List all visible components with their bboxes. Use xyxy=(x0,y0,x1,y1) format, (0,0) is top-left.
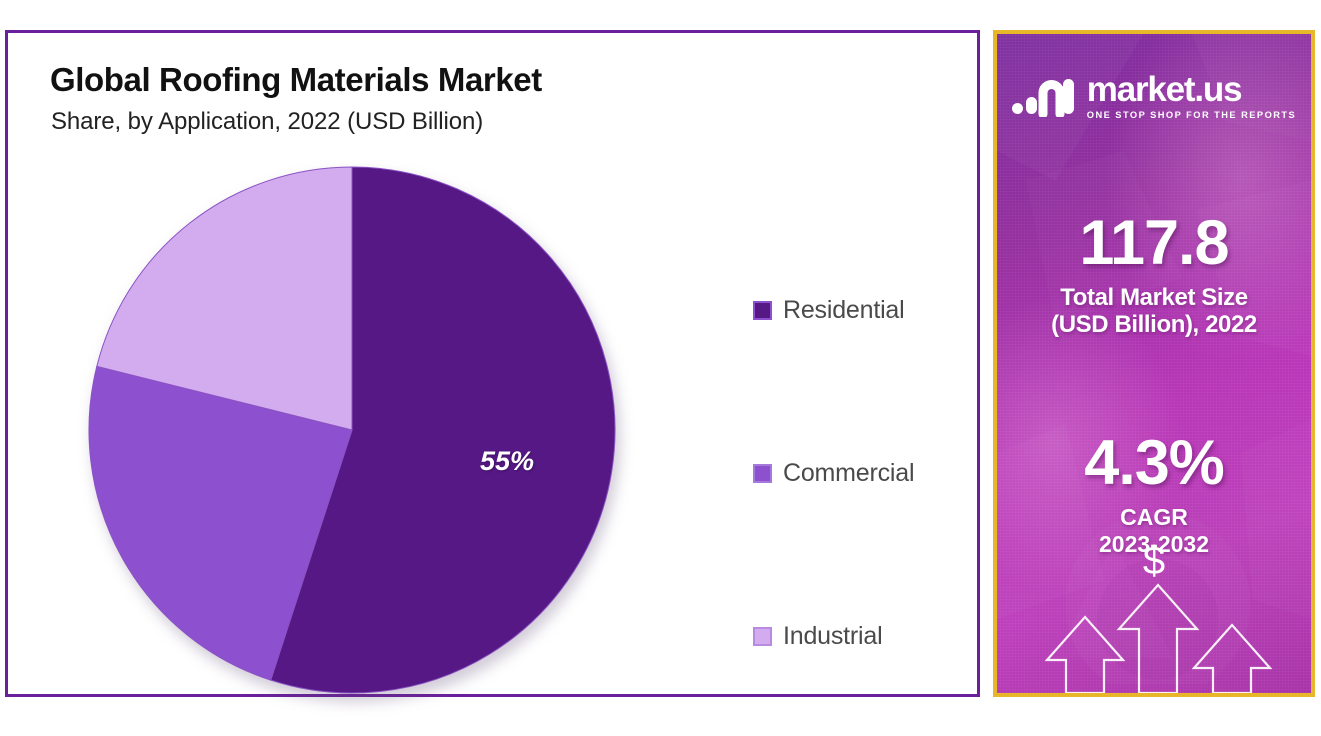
legend-item-residential[interactable]: Residential xyxy=(753,229,968,392)
logo-text: market.us ONE STOP SHOP FOR THE REPORTS xyxy=(1087,72,1296,120)
page-subtitle: Share, by Application, 2022 (USD Billion… xyxy=(51,108,483,136)
growth-graphic: $ xyxy=(997,533,1311,693)
legend-swatch-residential xyxy=(753,301,772,320)
market-size-caption-line2: (USD Billion), 2022 xyxy=(997,312,1311,339)
market-size-caption-line1: Total Market Size xyxy=(997,285,1311,312)
logo-tagline: ONE STOP SHOP FOR THE REPORTS xyxy=(1087,111,1296,120)
legend-label-industrial: Industrial xyxy=(783,622,882,651)
bar-chart-wave-icon xyxy=(1012,75,1074,117)
chart-legend: Residential Commercial Industrial xyxy=(753,229,968,718)
market-size-value: 117.8 xyxy=(997,212,1311,275)
stat-panel: market.us ONE STOP SHOP FOR THE REPORTS … xyxy=(993,30,1315,697)
legend-swatch-commercial xyxy=(753,464,772,483)
legend-label-residential: Residential xyxy=(783,296,904,325)
dollar-icon: $ xyxy=(997,541,1311,581)
market-us-logo[interactable]: market.us ONE STOP SHOP FOR THE REPORTS xyxy=(997,72,1311,120)
logo-wordmark: market.us xyxy=(1087,72,1296,107)
pie-svg xyxy=(88,166,616,694)
legend-item-industrial[interactable]: Industrial xyxy=(753,555,968,718)
market-size-caption: Total Market Size (USD Billion), 2022 xyxy=(997,285,1311,339)
infographic-root: Global Roofing Materials Market Share, b… xyxy=(0,0,1321,736)
pie-chart: 55% xyxy=(80,158,630,680)
legend-item-commercial[interactable]: Commercial xyxy=(753,392,968,555)
cagr-caption-line1: CAGR xyxy=(997,504,1311,531)
stat-market-size: 117.8 Total Market Size (USD Billion), 2… xyxy=(997,212,1311,339)
pie-slices xyxy=(88,166,616,694)
cagr-value: 4.3% xyxy=(997,432,1311,495)
chart-panel: Global Roofing Materials Market Share, b… xyxy=(5,30,980,697)
legend-label-commercial: Commercial xyxy=(783,459,914,488)
pie-slice-label-residential: 55% xyxy=(480,446,534,477)
legend-swatch-industrial xyxy=(753,627,772,646)
page-title: Global Roofing Materials Market xyxy=(50,61,542,99)
